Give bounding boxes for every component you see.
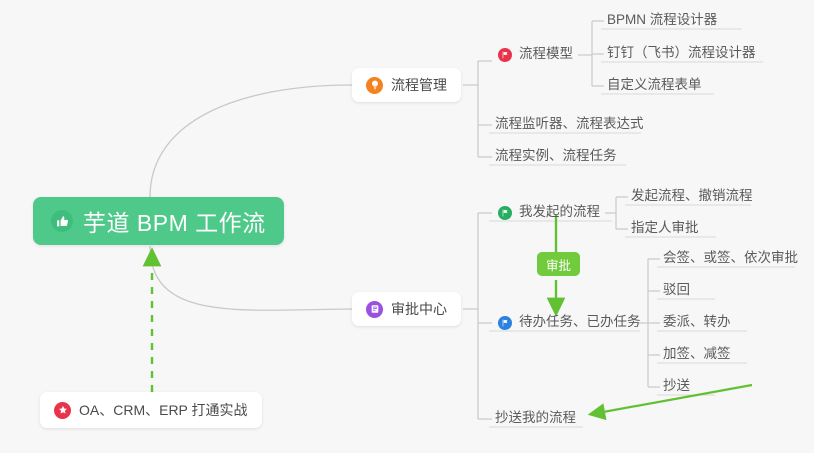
annotation-label: 审批 xyxy=(546,255,571,274)
topic-delegate-transfer[interactable]: 委派、转办 xyxy=(657,310,737,334)
topic-label: 流程监听器、流程表达式 xyxy=(495,112,644,132)
topic-label: 驳回 xyxy=(663,278,690,298)
topic-label: 流程模型 xyxy=(519,42,573,62)
topic-label: 抄送 xyxy=(663,374,690,394)
topic-cc[interactable]: 抄送 xyxy=(657,374,696,398)
annotation-approval-chip: 审批 xyxy=(537,252,580,276)
topic-label: 抄送我的流程 xyxy=(495,406,576,426)
topic-label: 钉钉（飞书）流程设计器 xyxy=(607,41,756,61)
lightbulb-icon xyxy=(366,77,383,94)
topic-my-started-processes[interactable]: 我发起的流程 xyxy=(492,200,606,224)
root-label: 芋道 BPM 工作流 xyxy=(83,204,266,238)
topic-assignee-approval[interactable]: 指定人审批 xyxy=(625,216,705,240)
topic-process-instance-task[interactable]: 流程实例、流程任务 xyxy=(489,144,623,168)
topic-add-remove-sign[interactable]: 加签、减签 xyxy=(657,342,737,366)
topic-dingtalk-designer[interactable]: 钉钉（飞书）流程设计器 xyxy=(601,41,762,65)
topic-todo-done-tasks[interactable]: 待办任务、已办任务 xyxy=(492,310,647,334)
topic-label: 流程实例、流程任务 xyxy=(495,144,617,164)
inbox-icon xyxy=(366,301,383,318)
root-node[interactable]: 芋道 BPM 工作流 xyxy=(33,197,284,245)
topic-label: 会签、或签、依次审批 xyxy=(663,246,798,266)
topic-cc-to-me-processes[interactable]: 抄送我的流程 xyxy=(489,406,582,430)
topic-label: 待办任务、已办任务 xyxy=(519,310,641,330)
flag-icon xyxy=(498,316,512,330)
topic-custom-process-form[interactable]: 自定义流程表单 xyxy=(601,73,708,97)
topic-label: 我发起的流程 xyxy=(519,200,600,220)
thumbs-up-icon xyxy=(51,210,73,232)
topic-start-revoke-process[interactable]: 发起流程、撤销流程 xyxy=(625,184,759,208)
note-integration-practice[interactable]: OA、CRM、ERP 打通实战 xyxy=(40,392,262,428)
branch-approval-center[interactable]: 审批中心 xyxy=(352,292,461,326)
star-icon xyxy=(54,402,71,419)
topic-process-listener-expression[interactable]: 流程监听器、流程表达式 xyxy=(489,112,650,136)
flag-icon xyxy=(498,48,512,62)
topic-label: BPMN 流程设计器 xyxy=(607,8,717,28)
flag-icon xyxy=(498,206,512,220)
branch-label: 审批中心 xyxy=(391,299,447,319)
connector-root-to-process-mgmt xyxy=(150,85,352,197)
topic-label: 发起流程、撤销流程 xyxy=(631,184,753,204)
topic-countersign-modes[interactable]: 会签、或签、依次审批 xyxy=(657,246,804,270)
branch-process-management[interactable]: 流程管理 xyxy=(352,68,461,102)
note-label: OA、CRM、ERP 打通实战 xyxy=(79,400,248,420)
connector-root-to-approval-center xyxy=(150,246,352,310)
topic-bpmn-designer[interactable]: BPMN 流程设计器 xyxy=(601,8,723,32)
topic-label: 加签、减签 xyxy=(663,342,731,362)
topic-label: 指定人审批 xyxy=(631,216,699,236)
topic-label: 自定义流程表单 xyxy=(607,73,702,93)
topic-process-model[interactable]: 流程模型 xyxy=(492,42,579,66)
topic-reject[interactable]: 驳回 xyxy=(657,278,696,302)
topic-label: 委派、转办 xyxy=(663,310,731,330)
branch-label: 流程管理 xyxy=(391,75,447,95)
mindmap-canvas: 芋道 BPM 工作流 流程管理 流程模型 BPMN 流程设计器 钉钉（飞书）流程… xyxy=(0,0,814,453)
